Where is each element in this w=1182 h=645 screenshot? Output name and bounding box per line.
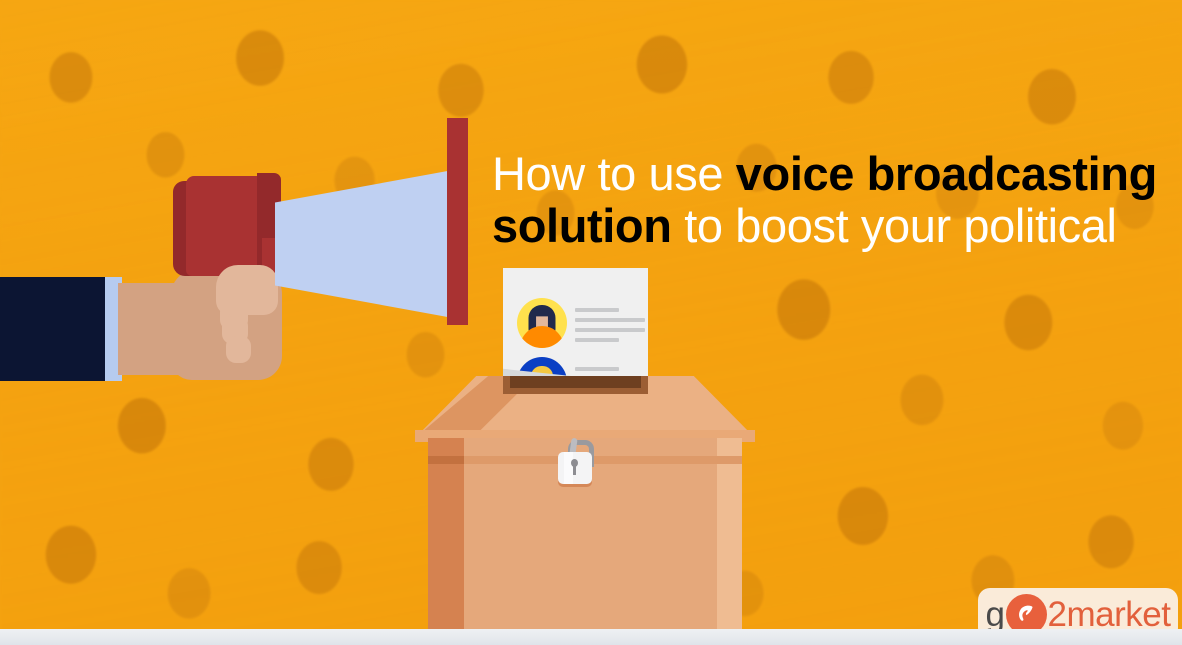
knuckle [226,336,251,363]
bottom-edge-strip [0,629,1182,645]
logo-prefix: g [986,597,1005,632]
suit-sleeve [0,277,105,381]
paper-text-line [575,308,619,312]
paper-text-line [575,328,645,332]
ballot-box-band-shade [428,456,464,464]
padlock-keyhole [571,459,578,467]
headline-part-three: to boost your political [672,199,1117,252]
megaphone-handle [186,176,260,276]
thumb [216,265,278,315]
headline-part-one: How to use [492,147,736,200]
headline: How to use voice broadcasting solution t… [492,148,1158,252]
paper-text-line [575,318,645,322]
ballot-slot-opening [510,376,641,388]
political-voice-broadcast-banner: How to use voice broadcasting solution t… [0,0,1182,645]
logo-suffix: 2market [1048,597,1171,632]
ballot-box-left-edge [428,438,464,633]
paper-text-line [575,367,619,371]
ballot-box-right-edge [717,438,742,633]
paper-text-line [575,338,619,342]
avatar-body [520,326,564,348]
candidate-one-avatar [517,298,567,348]
